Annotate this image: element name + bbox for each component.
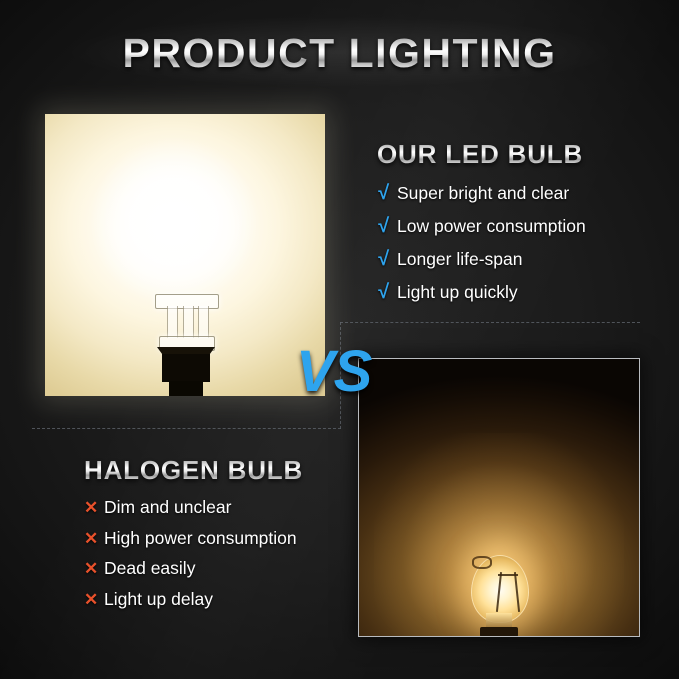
halogen-base-mid <box>475 636 523 637</box>
led-heading: OUR LED BULB <box>377 141 647 167</box>
led-feature-list: √ Super bright and clear √ Low power con… <box>377 183 647 302</box>
filament-coil <box>472 556 492 569</box>
list-item: ✕ Light up delay <box>84 591 354 609</box>
cross-icon: ✕ <box>84 560 104 577</box>
halogen-bulb-graphic <box>463 555 535 637</box>
halogen-feature-label: Dim and unclear <box>104 499 231 517</box>
product-lighting-comparison: PRODUCT LIGHTING <box>0 0 679 679</box>
led-feature-label: Low power consumption <box>397 218 586 236</box>
check-icon: √ <box>377 282 397 302</box>
check-icon: √ <box>377 183 397 203</box>
led-pillar <box>183 306 194 338</box>
halogen-feature-block: HALOGEN BULB ✕ Dim and unclear ✕ High po… <box>84 457 354 608</box>
cross-icon: ✕ <box>84 499 104 516</box>
led-base-body <box>162 354 210 382</box>
divider-dashed-horizontal-upper <box>340 322 640 323</box>
led-base-foot <box>169 381 203 396</box>
halogen-feature-label: High power consumption <box>104 530 297 548</box>
cross-icon: ✕ <box>84 530 104 547</box>
vs-badge: VS <box>296 343 371 401</box>
led-feature-block: OUR LED BULB √ Super bright and clear √ … <box>377 141 647 302</box>
cross-icon: ✕ <box>84 591 104 608</box>
list-item: √ Low power consumption <box>377 216 647 236</box>
halogen-feature-label: Dead easily <box>104 560 195 578</box>
list-item: ✕ Dead easily <box>84 560 354 578</box>
list-item: √ Super bright and clear <box>377 183 647 203</box>
filament-wire <box>514 572 520 612</box>
page-title: PRODUCT LIGHTING <box>0 33 679 74</box>
halogen-heading: HALOGEN BULB <box>84 457 354 483</box>
led-pillar <box>167 306 178 338</box>
halogen-feature-list: ✕ Dim and unclear ✕ High power consumpti… <box>84 499 354 608</box>
filament-wire <box>498 574 518 576</box>
list-item: ✕ Dim and unclear <box>84 499 354 517</box>
led-feature-label: Longer life-span <box>397 251 523 269</box>
filament-wire <box>496 572 502 612</box>
divider-dashed-horizontal-lower <box>32 428 341 429</box>
check-icon: √ <box>377 216 397 236</box>
halogen-bulb-photo <box>358 358 640 637</box>
list-item: ✕ High power consumption <box>84 530 354 548</box>
led-pillar <box>198 306 209 338</box>
check-icon: √ <box>377 249 397 269</box>
led-feature-label: Light up quickly <box>397 284 518 302</box>
led-feature-label: Super bright and clear <box>397 185 569 203</box>
led-bulb-photo <box>45 114 325 396</box>
list-item: √ Longer life-span <box>377 249 647 269</box>
halogen-feature-label: Light up delay <box>104 591 213 609</box>
led-bulb-graphic <box>153 290 219 396</box>
list-item: √ Light up quickly <box>377 282 647 302</box>
